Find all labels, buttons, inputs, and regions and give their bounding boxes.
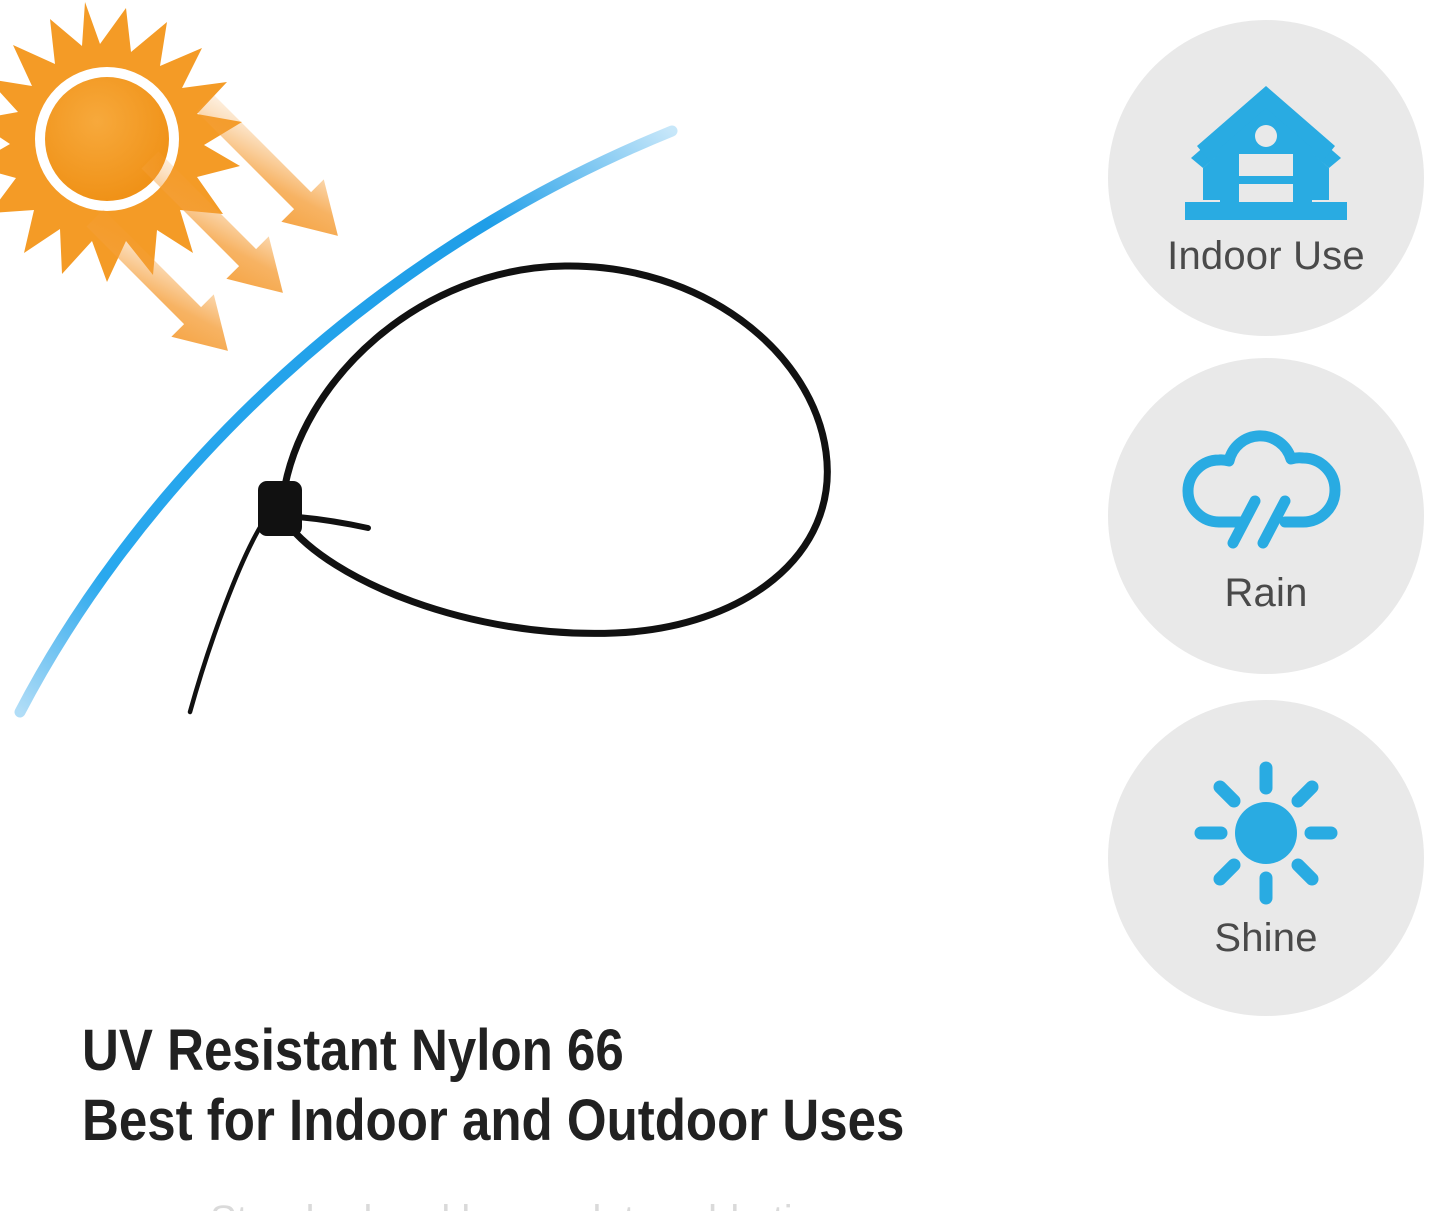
clipped-caption: Standard and heavy duty cable ties [210,1196,1010,1211]
house-icon [1181,80,1351,230]
cable-tie [190,266,827,712]
product-infographic: Indoor Use Rain [0,0,1432,1211]
badge-rain[interactable]: Rain [1108,358,1424,674]
sun-shine-icon [1181,758,1351,908]
badge-indoor-use[interactable]: Indoor Use [1108,20,1424,336]
headline-line-2: Best for Indoor and Outdoor Uses [82,1086,944,1156]
headline-block: UV Resistant Nylon 66 Best for Indoor an… [82,1016,1062,1156]
cable-tie-loop [283,266,827,633]
rain-cloud-icon [1181,419,1351,559]
uv-resistance-illustration [0,0,1080,1000]
badge-shine[interactable]: Shine [1108,700,1424,1016]
sun-core [45,77,169,201]
badge-label: Rain [1224,573,1307,613]
clipped-caption-text: Standard and heavy duty cable ties [210,1196,1010,1211]
badge-label: Indoor Use [1167,236,1365,276]
feature-badges: Indoor Use Rain [1100,0,1432,1020]
cable-tie-head [258,481,302,536]
cable-tie-strap [298,517,368,528]
headline-line-1: UV Resistant Nylon 66 [82,1016,944,1086]
cable-tie-tail [190,524,262,712]
badge-label: Shine [1214,918,1317,958]
